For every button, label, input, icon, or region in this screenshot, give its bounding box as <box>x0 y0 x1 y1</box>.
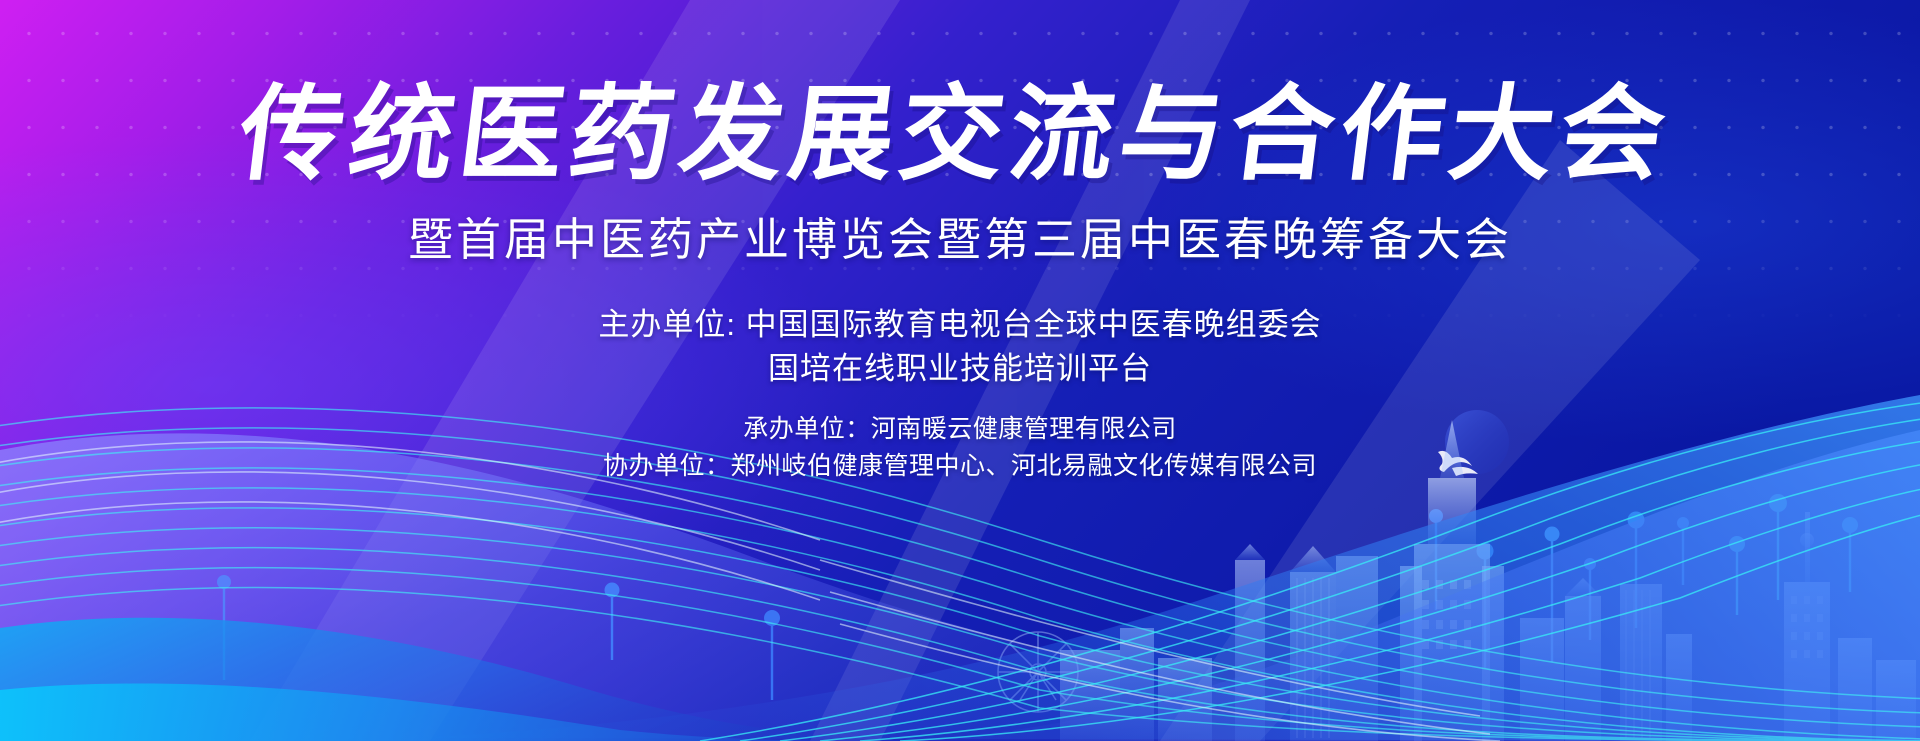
organizer-line: 承办单位：河南暖云健康管理有限公司 <box>0 411 1920 449</box>
banner-text-block: 传统医药发展交流与合作大会 暨首届中医药产业博览会暨第三届中医春晚筹备大会 主办… <box>0 0 1920 486</box>
host-line-1: 主办单位: 中国国际教育电视台全球中医春晚组委会 <box>0 303 1920 347</box>
support-organizations: 承办单位：河南暖云健康管理有限公司 协办单位：郑州岐伯健康管理中心、河北易融文化… <box>0 391 1920 486</box>
host-organizations: 主办单位: 中国国际教育电视台全球中医春晚组委会 国培在线职业技能培训平台 <box>0 269 1920 391</box>
conference-banner: 传统医药发展交流与合作大会 暨首届中医药产业博览会暨第三届中医春晚筹备大会 主办… <box>0 0 1920 741</box>
host-line-2: 国培在线职业技能培训平台 <box>0 347 1920 391</box>
page-title: 传统医药发展交流与合作大会 <box>0 0 1920 190</box>
page-subtitle: 暨首届中医药产业博览会暨第三届中医春晚筹备大会 <box>0 190 1920 268</box>
co-organizer-line: 协办单位：郑州岐伯健康管理中心、河北易融文化传媒有限公司 <box>0 448 1920 486</box>
